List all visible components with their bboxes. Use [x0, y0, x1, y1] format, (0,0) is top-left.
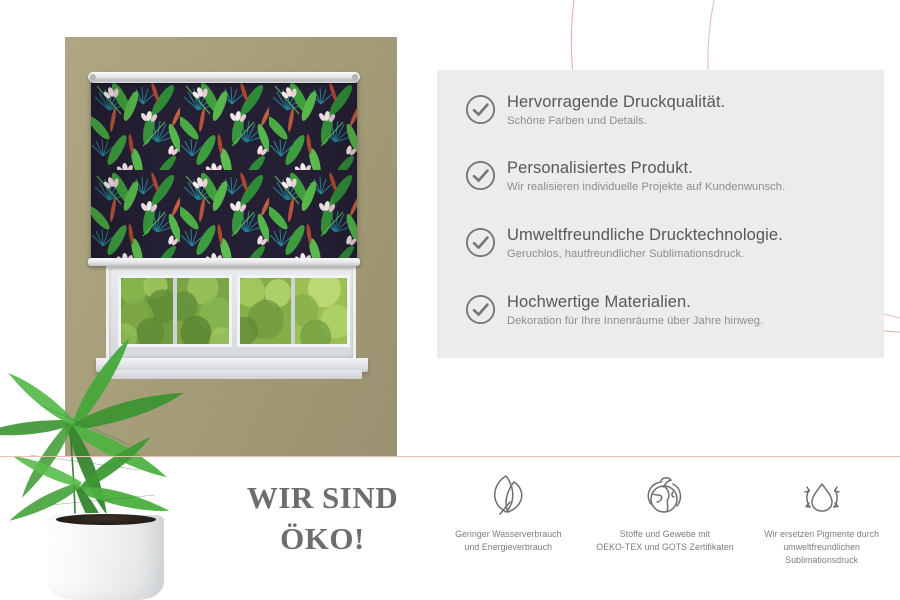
plant-soil [56, 514, 156, 525]
feature-subtitle: Geruchlos, hautfreundlicher Sublimations… [507, 248, 783, 260]
feature-subtitle: Dekoration für Ihre Innenräume über Jahr… [507, 315, 763, 327]
promo-banner: Hervorragende Druckqualität. Schöne Farb… [0, 0, 900, 600]
eco-item-certificates: Stoffe und Gewebe mit OEKO-TEX und GOTS … [587, 470, 744, 595]
eco-caption: Stoffe und Gewebe mit OEKO-TEX und GOTS … [596, 528, 733, 554]
feature-title: Personalisiertes Produkt. [507, 159, 693, 177]
feature-item-eco-printing: Umweltfreundliche Drucktechnologie. Geru… [465, 225, 783, 260]
check-circle-icon [465, 294, 496, 325]
feature-item-personalised: Personalisiertes Produkt. Wir realisiere… [465, 158, 785, 193]
feature-item-quality-materials: Hochwertige Materialien. Dekoration für … [465, 292, 763, 327]
two-leaves-icon [482, 470, 534, 522]
eco-item-sublimation: Wir ersetzen Pigmente durch umweltfreund… [743, 470, 900, 595]
blind-roller-tube [88, 72, 360, 83]
features-panel: Hervorragende Druckqualität. Schöne Farb… [437, 70, 884, 358]
eco-item-water-energy: Geringer Wasserverbrauch und Energieverb… [430, 470, 587, 595]
feature-subtitle: Schöne Farben und Details. [507, 115, 725, 127]
feature-title: Hochwertige Materialien. [507, 293, 691, 311]
eco-headline-line1: WIR SIND [215, 477, 430, 518]
horizontal-divider [0, 456, 900, 457]
plant-pot [48, 515, 164, 600]
eco-headline-line2: ÖKO! [215, 518, 430, 559]
check-circle-icon [465, 160, 496, 191]
eco-caption: Wir ersetzen Pigmente durch umweltfreund… [764, 528, 879, 566]
check-circle-icon [465, 227, 496, 258]
window-pane [240, 278, 292, 344]
feature-subtitle: Wir realisieren individuelle Projekte au… [507, 181, 785, 193]
water-drop-recycle-icon [796, 470, 848, 522]
feature-title: Umweltfreundliche Drucktechnologie. [507, 226, 783, 244]
blind-bottom-bar [88, 258, 360, 266]
window-pane-group-right [237, 275, 351, 347]
eco-headline: WIR SIND ÖKO! [215, 477, 430, 559]
eco-caption: Geringer Wasserverbrauch und Energieverb… [455, 528, 561, 554]
window-pane [295, 278, 347, 344]
globe-leaf-icon [639, 470, 691, 522]
blind-fabric [91, 80, 357, 260]
check-circle-icon [465, 94, 496, 125]
feature-item-print-quality: Hervorragende Druckqualität. Schöne Farb… [465, 92, 725, 127]
feature-title: Hervorragende Druckqualität. [507, 93, 725, 111]
roller-blind [88, 72, 360, 272]
eco-benefits-list: Geringer Wasserverbrauch und Energieverb… [430, 470, 900, 595]
